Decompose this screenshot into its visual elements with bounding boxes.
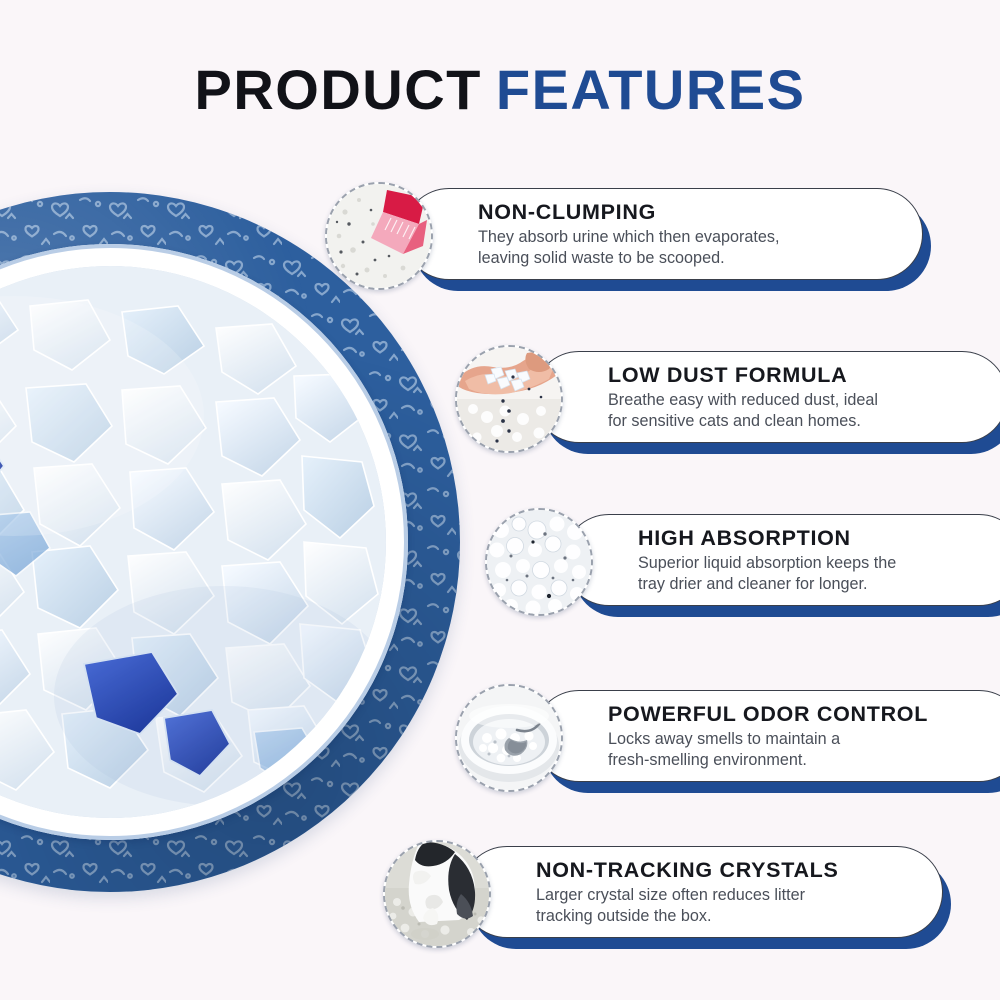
feature-title: LOW DUST FORMULA (608, 363, 973, 387)
feature-title: POWERFUL ODOR CONTROL (608, 702, 990, 726)
feature-card[interactable]: POWERFUL ODOR CONTROL Locks away smells … (533, 690, 1000, 782)
feature-card[interactable]: NON-TRACKING CRYSTALS Larger crystal siz… (461, 846, 943, 938)
product-image-circle (0, 192, 460, 892)
feature-description: Larger crystal size often reduces litter… (536, 885, 908, 926)
page-title-blue: FEATURES (496, 58, 806, 121)
feature-description: They absorb urine which then evaporates,… (478, 227, 888, 268)
feature-title: NON-TRACKING CRYSTALS (536, 858, 908, 882)
feature-description: Locks away smells to maintain a fresh-sm… (608, 729, 990, 770)
feature-card[interactable]: LOW DUST FORMULA Breathe easy with reduc… (533, 351, 1000, 443)
page-title: PRODUCTFEATURES (0, 62, 1000, 118)
feature-card[interactable]: HIGH ABSORPTION Superior liquid absorpti… (563, 514, 1000, 606)
feature-description: Breathe easy with reduced dust, ideal fo… (608, 390, 973, 431)
litter-scoop-icon (325, 182, 433, 290)
litter-box-with-scoop-icon (455, 684, 563, 792)
cat-on-litter-icon (383, 840, 491, 948)
feature-title: HIGH ABSORPTION (638, 526, 990, 550)
hand-with-crystals-icon (455, 345, 563, 453)
infographic-canvas: PRODUCTFEATURES (0, 0, 1000, 1000)
feature-title: NON-CLUMPING (478, 200, 888, 224)
absorbent-crystals-icon (485, 508, 593, 616)
feature-description: Superior liquid absorption keeps the tra… (638, 553, 990, 594)
feature-card[interactable]: NON-CLUMPING They absorb urine which the… (403, 188, 923, 280)
page-title-dark: PRODUCT (194, 58, 481, 121)
